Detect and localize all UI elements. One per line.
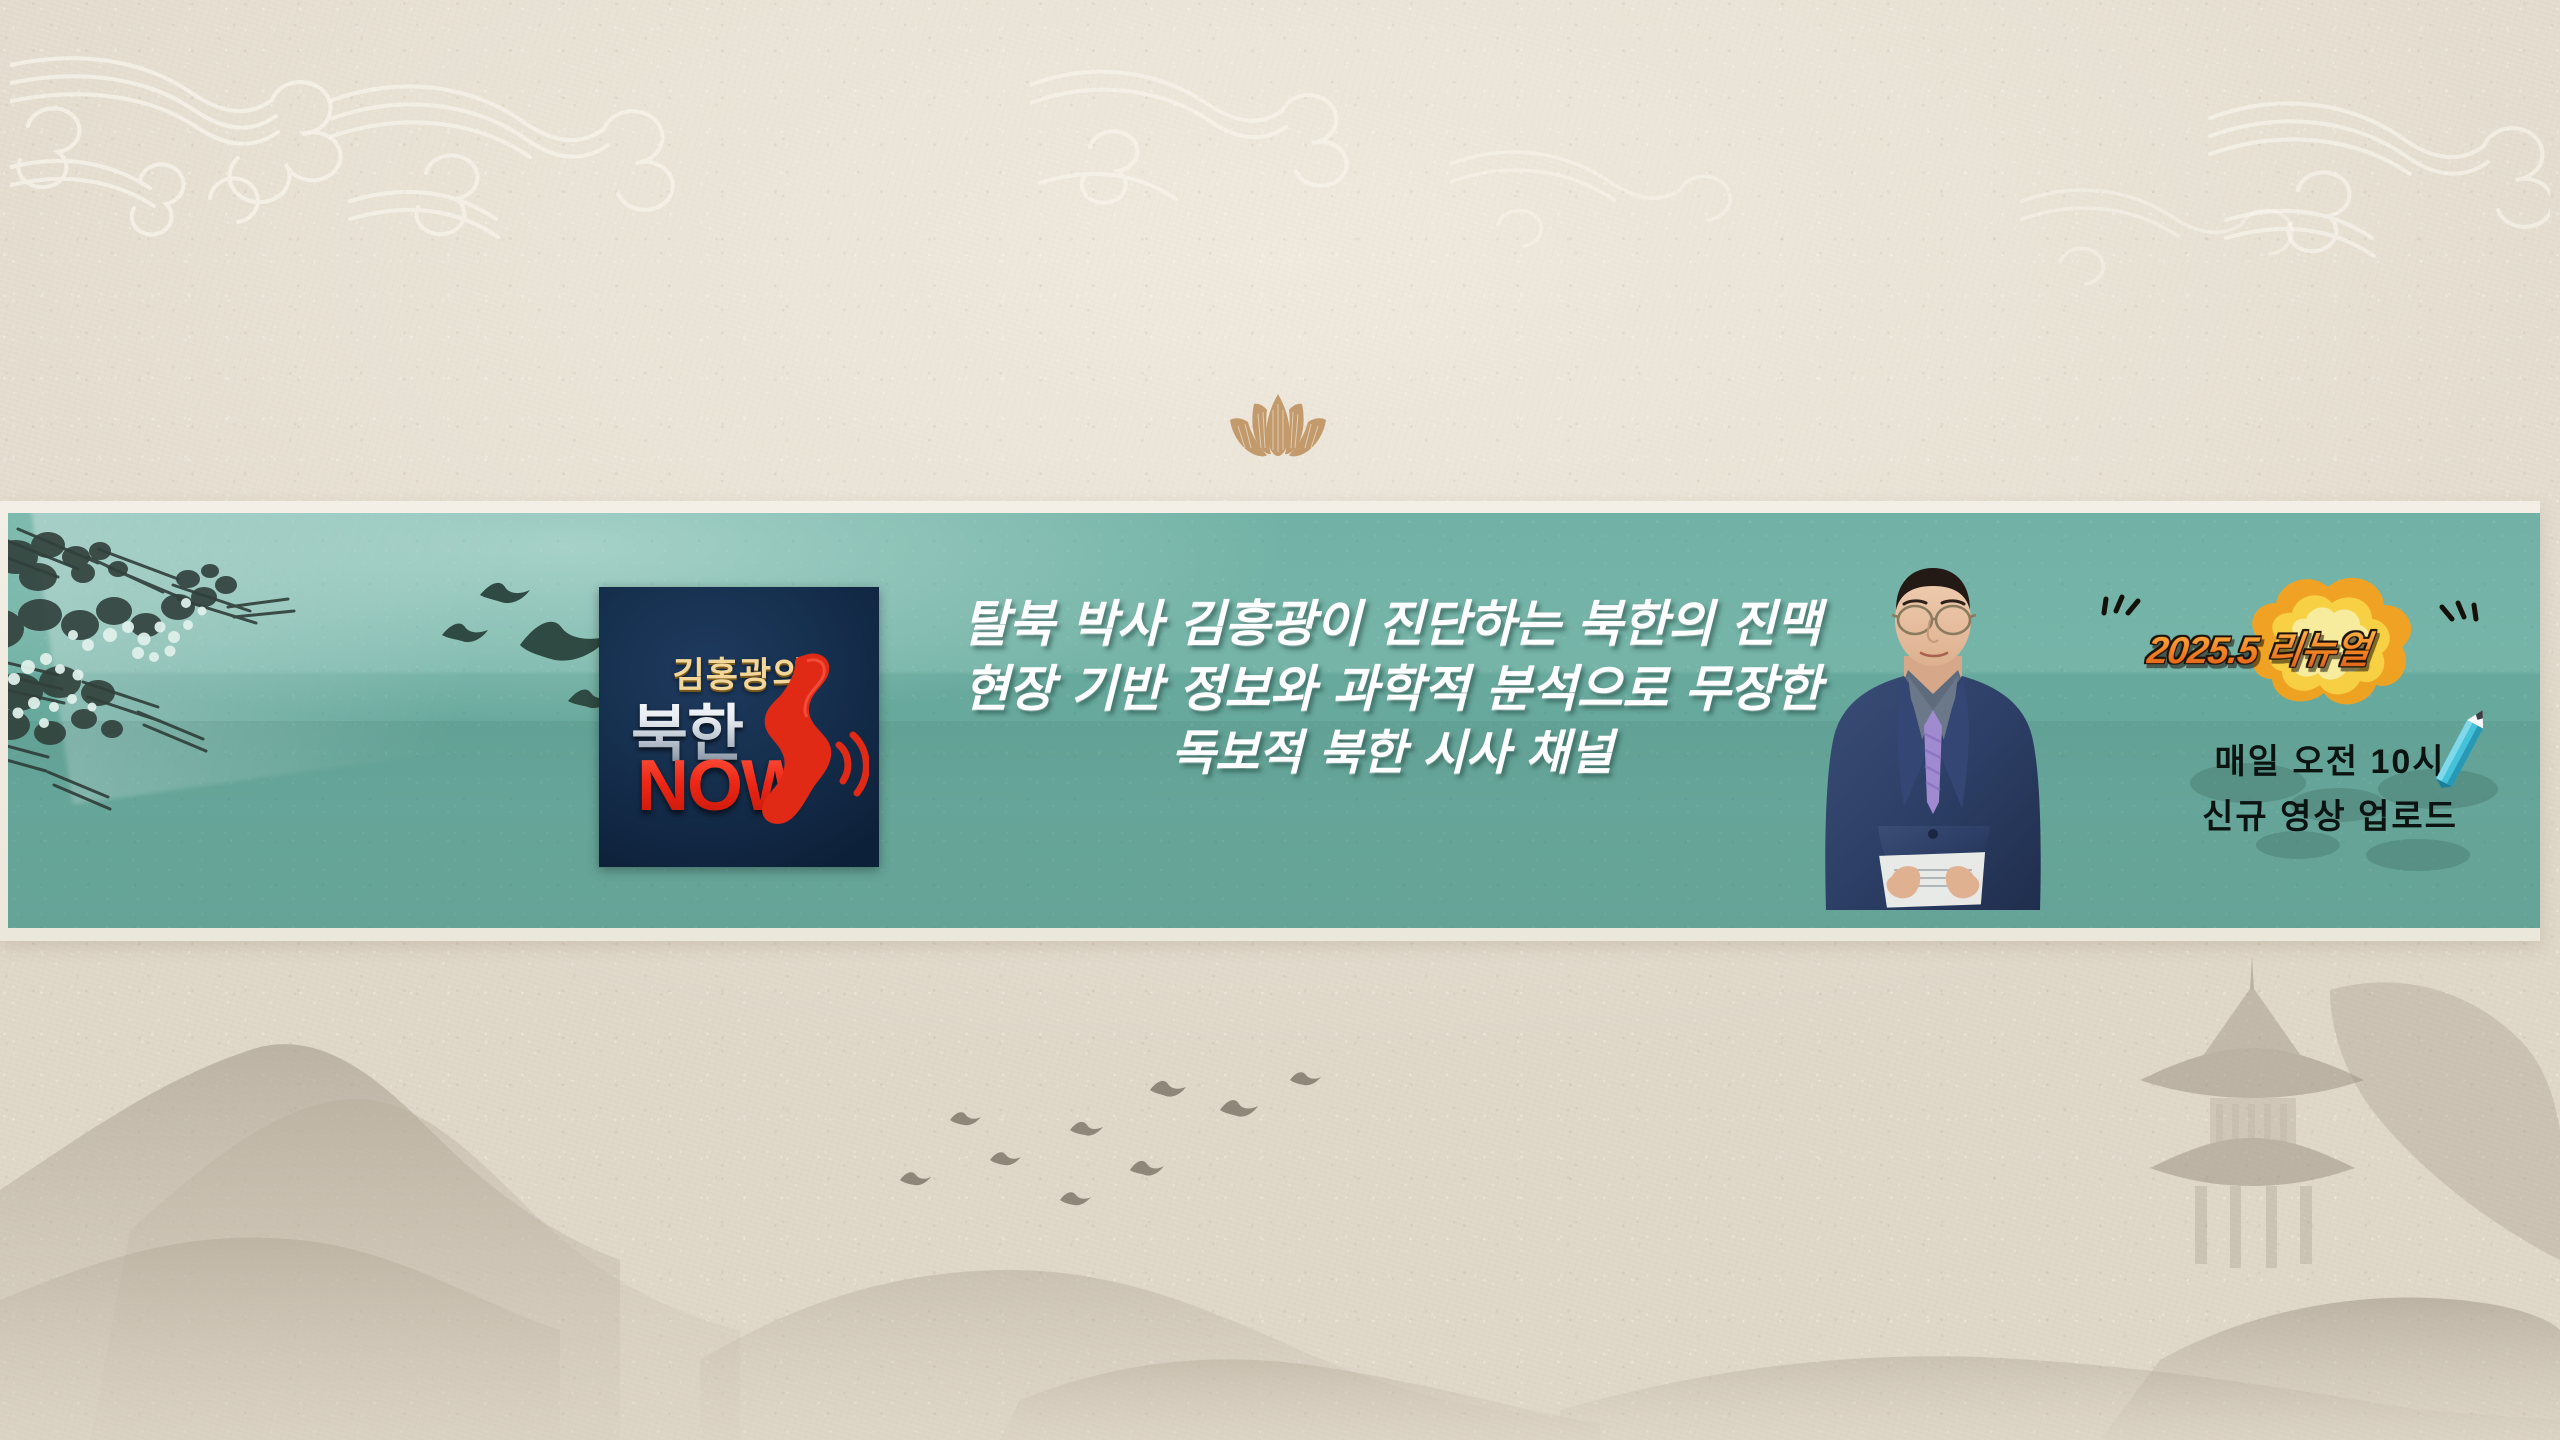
cloud-motif-icon (2190, 70, 2550, 280)
cloud-motif-icon (1450, 120, 1750, 295)
headline-line-2: 현장 기반 정보와 과학적 분석으로 무장한 (922, 657, 1862, 722)
pencil-icon (2425, 703, 2499, 795)
korea-peninsula-icon (739, 649, 869, 839)
ink-landscape (0, 930, 2560, 1440)
ink-pine-branch-icon (8, 513, 458, 837)
schedule-line-2: 신규 영상 업로드 (2160, 790, 2500, 845)
presenter-photo (1808, 558, 2058, 938)
banner-frame: 김홍광의 북한 NOW 탈북 박사 김흥광이 진단하는 북한의 진맥 현장 기반… (0, 501, 2540, 941)
banner-headline: 탈북 박사 김흥광이 진단하는 북한의 진맥 현장 기반 정보와 과학적 분석으… (922, 592, 1862, 784)
channel-banner-page: 김홍광의 북한 NOW 탈북 박사 김흥광이 진단하는 북한의 진맥 현장 기반… (0, 0, 2560, 1440)
cloud-motif-icon (1030, 35, 1360, 225)
spark-lines-icon (2432, 597, 2492, 647)
cloud-motif-icon (10, 30, 390, 250)
cloud-motif-icon (330, 55, 690, 260)
cloud-motif-icon (2020, 150, 2310, 320)
lotus-emblem-icon (1218, 390, 1338, 460)
headline-line-3: 독보적 북한 시사 채널 (922, 722, 1862, 784)
channel-logo[interactable]: 김홍광의 북한 NOW (599, 587, 879, 867)
spark-lines-icon (2088, 591, 2148, 641)
headline-line-1: 탈북 박사 김흥광이 진단하는 북한의 진맥 (922, 592, 1862, 657)
